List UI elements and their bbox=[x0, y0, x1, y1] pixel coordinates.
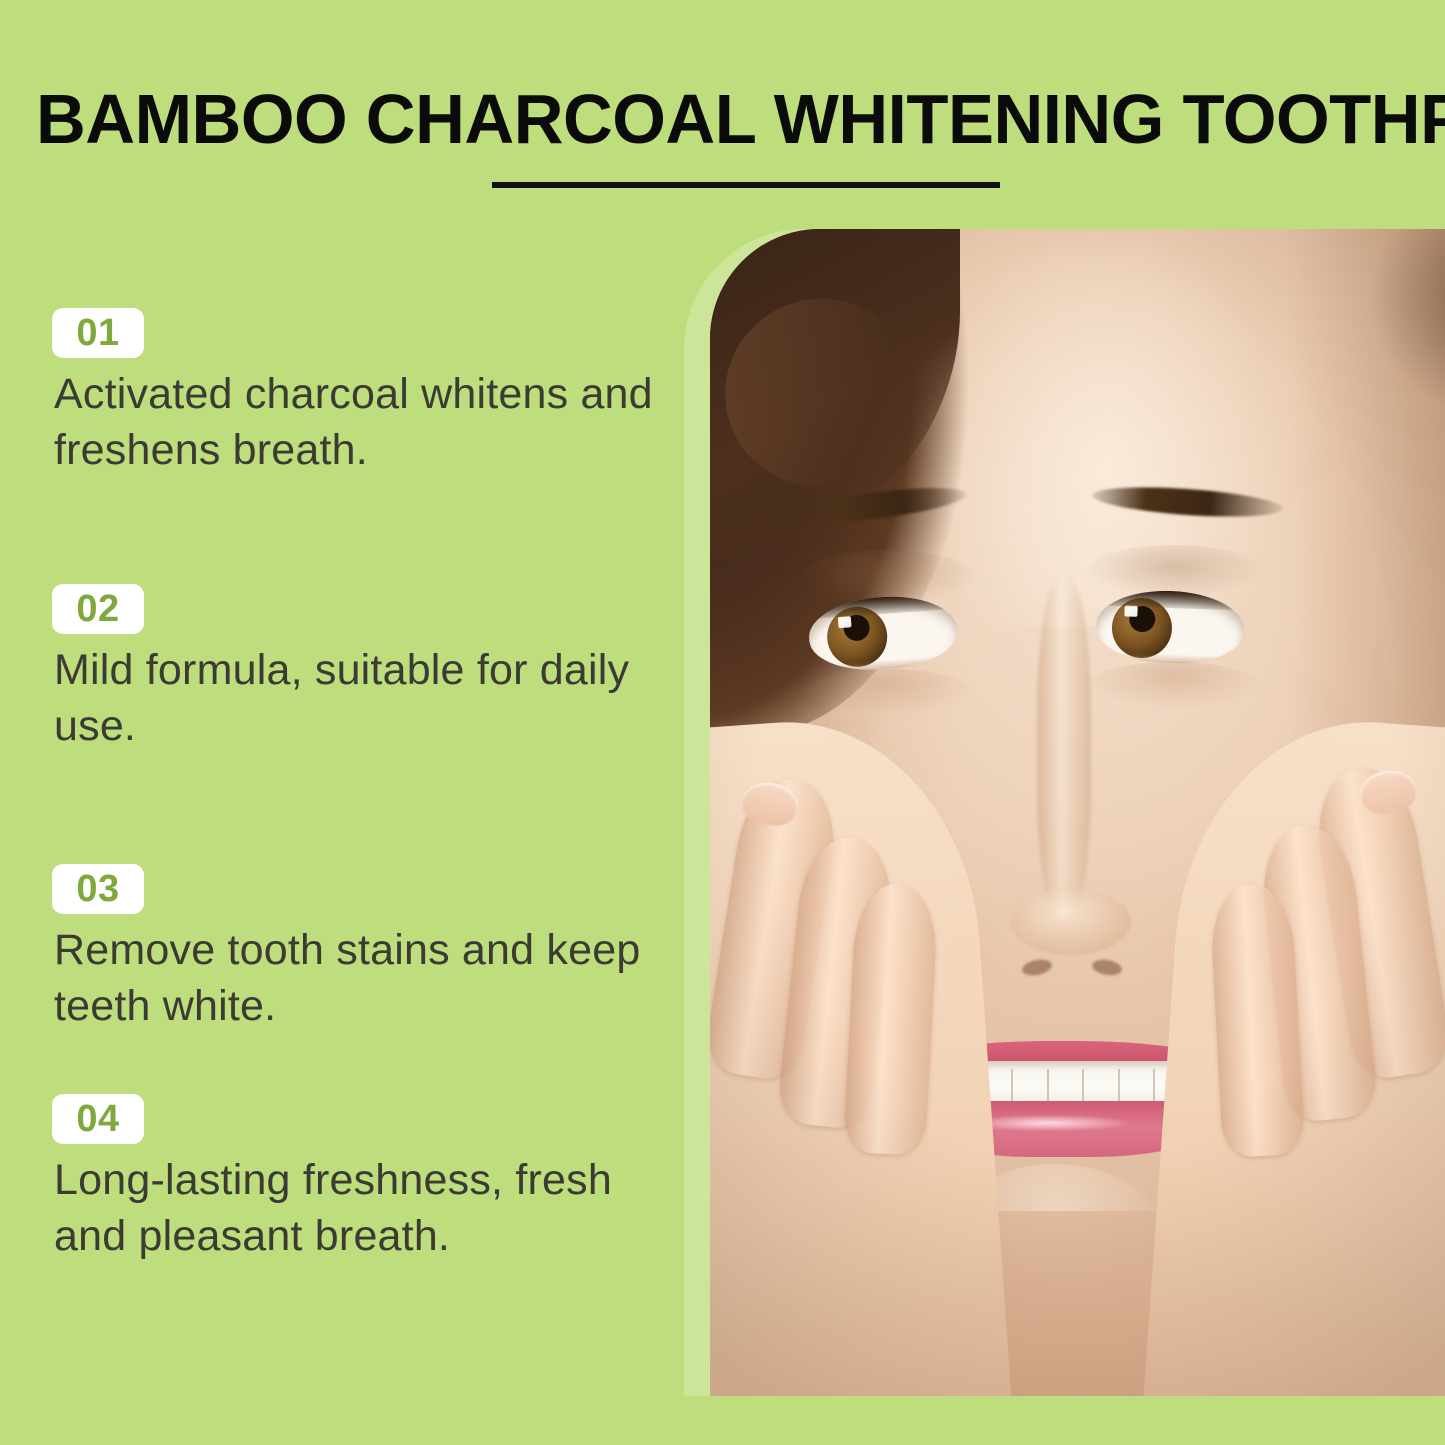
photo-frame bbox=[684, 229, 1445, 1396]
feature-number-label: 02 bbox=[62, 584, 134, 635]
feature-description: Long-lasting freshness, fresh and pleasa… bbox=[54, 1152, 654, 1264]
title-underline-rule bbox=[492, 182, 1000, 188]
feature-description: Remove tooth stains and keep teeth white… bbox=[54, 922, 654, 1034]
product-infographic: BAMBOO CHARCOAL WHITENING TOOTHPASTE 01 … bbox=[0, 0, 1445, 1445]
feature-item-01: 01 Activated charcoal whitens and freshe… bbox=[52, 308, 664, 478]
photo-content bbox=[710, 229, 1445, 1396]
feature-description: Activated charcoal whitens and freshens … bbox=[54, 366, 654, 478]
feature-number-label: 04 bbox=[62, 1094, 134, 1145]
feature-number-label: 01 bbox=[62, 308, 134, 359]
feature-description: Mild formula, suitable for daily use. bbox=[54, 642, 654, 754]
feature-item-04: 04 Long-lasting freshness, fresh and ple… bbox=[52, 1094, 664, 1264]
feature-item-02: 02 Mild formula, suitable for daily use. bbox=[52, 584, 664, 754]
photo-vignette bbox=[710, 229, 1445, 1396]
model-photo bbox=[710, 229, 1445, 1396]
feature-number-badge-03: 03 bbox=[52, 864, 144, 914]
feature-number-badge-04: 04 bbox=[52, 1094, 144, 1144]
feature-number-badge-02: 02 bbox=[52, 584, 144, 634]
feature-number-badge-01: 01 bbox=[52, 308, 144, 358]
feature-number-label: 03 bbox=[62, 864, 134, 915]
page-title: BAMBOO CHARCOAL WHITENING TOOTHPASTE bbox=[36, 82, 1390, 156]
feature-item-03: 03 Remove tooth stains and keep teeth wh… bbox=[52, 864, 664, 1034]
